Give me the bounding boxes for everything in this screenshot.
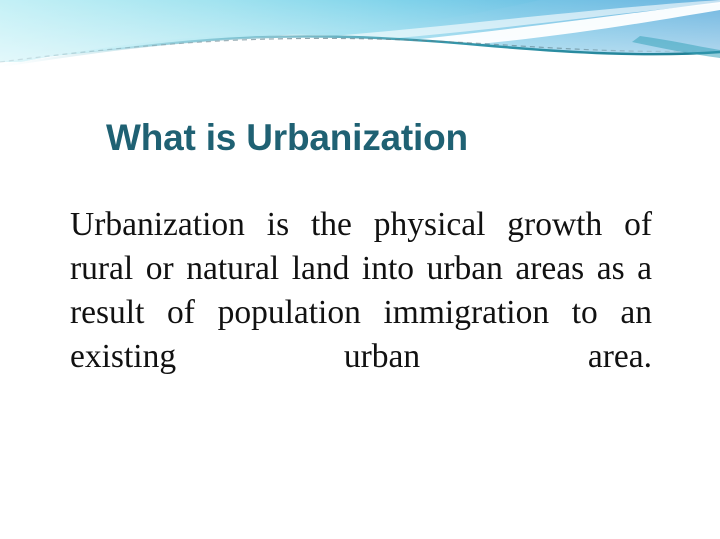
page-title: What is Urbanization — [106, 118, 720, 159]
slide: What is Urbanization Urbanization is the… — [0, 0, 720, 539]
title-block: What is Urbanization — [0, 118, 720, 159]
body-block: Urbanization is the physical growth of r… — [70, 203, 652, 423]
body-paragraph: Urbanization is the physical growth of r… — [70, 203, 652, 423]
wave-banner-decoration — [0, 0, 720, 95]
